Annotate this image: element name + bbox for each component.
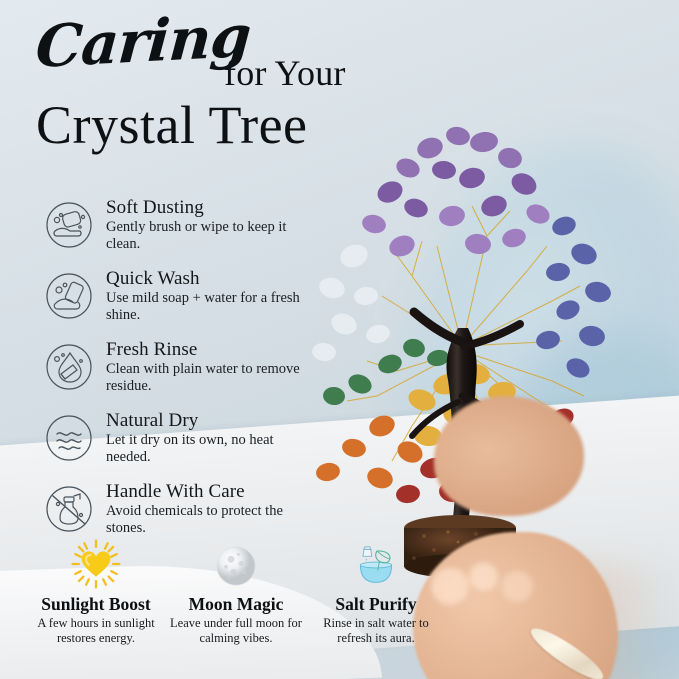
crystal-tree-product-photo: [262, 96, 662, 576]
tree-branch-right: [464, 324, 520, 346]
sun-heart-icon: [30, 537, 162, 591]
energize-step-desc: A few hours in sunlight restores energy.: [30, 616, 162, 645]
care-step-text: Fresh Rinse Clean with plain water to re…: [106, 338, 306, 394]
energize-step-sunlight-boost: Sunlight Boost A few hours in sunlight r…: [26, 537, 166, 645]
care-step-desc: Let it dry on its own, no heat needed.: [106, 432, 306, 465]
salt-bowl-icon: [310, 537, 442, 591]
title-line-one: Caring for Your: [34, 18, 454, 88]
care-step-desc: Gently brush or wipe to keep it clean.: [106, 219, 306, 252]
energize-step-title: Sunlight Boost: [41, 594, 150, 614]
soap-bottle-icon: [42, 269, 96, 323]
care-step-text: Quick Wash Use mild soap + water for a f…: [106, 267, 306, 323]
water-drop-brush-icon: [42, 340, 96, 394]
care-step-title: Soft Dusting: [106, 197, 204, 218]
care-step-natural-dry: Natural Dry Let it dry on its own, no he…: [42, 409, 312, 465]
care-step-soft-dusting: Soft Dusting Gently brush or wipe to kee…: [42, 196, 312, 252]
energize-step-title: Moon Magic: [189, 594, 284, 614]
energize-step-desc: Leave under full moon for calming vibes.: [170, 616, 302, 645]
energize-step-desc: Rinse in salt water to refresh its aura.: [310, 616, 442, 645]
care-step-title: Handle With Care: [106, 481, 245, 502]
care-step-title: Quick Wash: [106, 268, 200, 289]
title-for-your: for Your: [224, 52, 346, 94]
care-step-text: Natural Dry Let it dry on its own, no he…: [106, 409, 306, 465]
care-step-text: Handle With Care Avoid chemicals to prot…: [106, 480, 306, 536]
care-step-title: Fresh Rinse: [106, 339, 197, 360]
energize-step-title: Salt Purify: [335, 594, 416, 614]
care-step-desc: Use mild soap + water for a fresh shine.: [106, 290, 306, 323]
care-step-desc: Clean with plain water to remove residue…: [106, 361, 306, 394]
hand-upper: [434, 396, 584, 516]
air-dry-waves-icon: [42, 411, 96, 465]
energize-step-salt-purify: Salt Purify Rinse in salt water to refre…: [306, 537, 446, 645]
title-subject: Crystal Tree: [36, 94, 454, 156]
care-step-fresh-rinse: Fresh Rinse Clean with plain water to re…: [42, 338, 312, 394]
energize-steps-row: Sunlight Boost A few hours in sunlight r…: [26, 537, 446, 645]
care-step-handle-with-care: Handle With Care Avoid chemicals to prot…: [42, 480, 312, 536]
care-step-title: Natural Dry: [106, 410, 198, 431]
infographic-poster: Caring for Your Crystal Tree Soft Dustin…: [0, 0, 679, 679]
soap-hand-icon: [42, 198, 96, 252]
care-steps-list: Soft Dusting Gently brush or wipe to kee…: [42, 196, 312, 551]
no-chemicals-icon: [42, 482, 96, 536]
care-step-desc: Avoid chemicals to protect the stones.: [106, 503, 306, 536]
care-step-quick-wash: Quick Wash Use mild soap + water for a f…: [42, 267, 312, 323]
care-step-text: Soft Dusting Gently brush or wipe to kee…: [106, 196, 306, 252]
page-title: Caring for Your Crystal Tree: [34, 18, 454, 156]
energize-step-moon-magic: Moon Magic Leave under full moon for cal…: [166, 537, 306, 645]
title-script-word: Caring: [34, 7, 252, 76]
full-moon-icon: [170, 537, 302, 591]
